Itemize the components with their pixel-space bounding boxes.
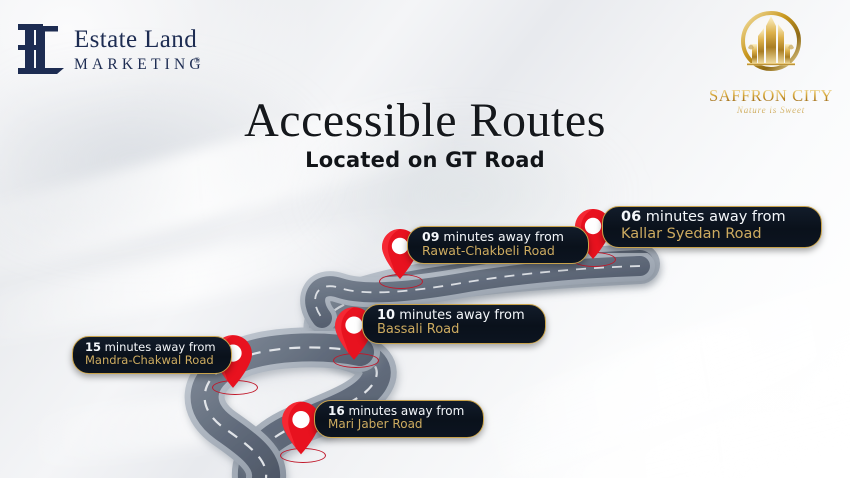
route-road-name: Rawat-Chakbeli Road	[422, 244, 574, 258]
route-time-suffix: minutes away from	[646, 209, 786, 225]
route-time-suffix: minutes away from	[399, 308, 524, 323]
route-marker-rawat-chakbeli[interactable]: 09 minutes away from Rawat-Chakbeli Road	[375, 226, 625, 298]
route-marker-mari-jaber[interactable]: 16 minutes away from Mari Jaber Road	[276, 396, 526, 474]
route-road-name: Bassali Road	[377, 323, 531, 338]
route-road-name: Kallar Syedan Road	[621, 226, 803, 243]
route-minutes: 09	[422, 229, 439, 244]
route-label-pill[interactable]: 06 minutes away from Kallar Syedan Road	[602, 206, 822, 248]
route-label-pill[interactable]: 09 minutes away from Rawat-Chakbeli Road	[407, 226, 589, 264]
route-road-name: Mandra-Chakwal Road	[85, 354, 219, 367]
route-road-name: Mari Jaber Road	[328, 418, 470, 432]
route-label-pill[interactable]: 10 minutes away from Bassali Road	[362, 304, 546, 344]
route-time-suffix: minutes away from	[349, 404, 465, 418]
route-label-pill[interactable]: 15 minutes away from Mandra-Chakwal Road	[72, 336, 232, 374]
route-marker-mandra-chakwal[interactable]: 15 minutes away from Mandra-Chakwal Road	[72, 330, 292, 406]
route-label-pill[interactable]: 16 minutes away from Mari Jaber Road	[314, 400, 484, 438]
route-time-suffix: minutes away from	[443, 229, 564, 244]
route-minutes: 06	[621, 209, 641, 225]
route-minutes: 16	[328, 404, 345, 418]
route-minutes: 15	[85, 340, 101, 354]
route-marker-bassali[interactable]: 10 minutes away from Bassali Road	[328, 304, 578, 378]
route-minutes: 10	[377, 308, 395, 323]
infographic-canvas: Estate Land MARKETING ®	[0, 0, 850, 478]
route-time-suffix: minutes away from	[105, 340, 216, 354]
